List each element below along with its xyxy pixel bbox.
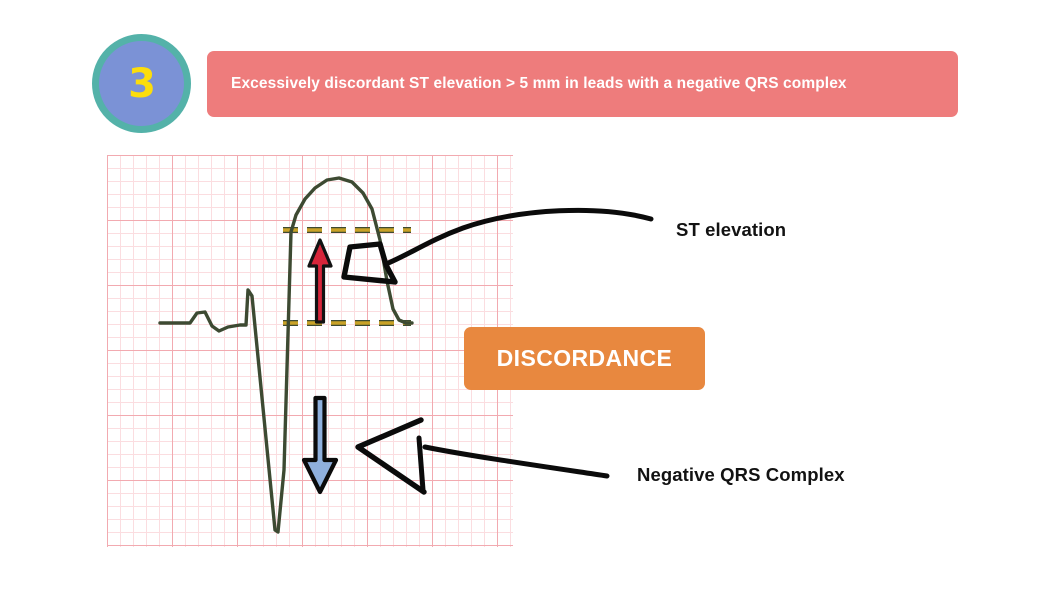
headline-banner: Excessively discordant ST elevation > 5 … [207, 51, 958, 117]
negative-qrs-label: Negative QRS Complex [637, 464, 845, 486]
step-number-badge: 3 [92, 34, 191, 133]
headline-text: Excessively discordant ST elevation > 5 … [207, 75, 847, 93]
slide-canvas: 3 Excessively discordant ST elevation > … [0, 0, 1050, 591]
st-elevation-label: ST elevation [676, 219, 786, 241]
discordance-badge: DISCORDANCE [464, 327, 705, 390]
discordance-badge-text: DISCORDANCE [497, 345, 673, 372]
step-number-text: 3 [128, 64, 155, 104]
ecg-grid-panel [107, 155, 513, 547]
